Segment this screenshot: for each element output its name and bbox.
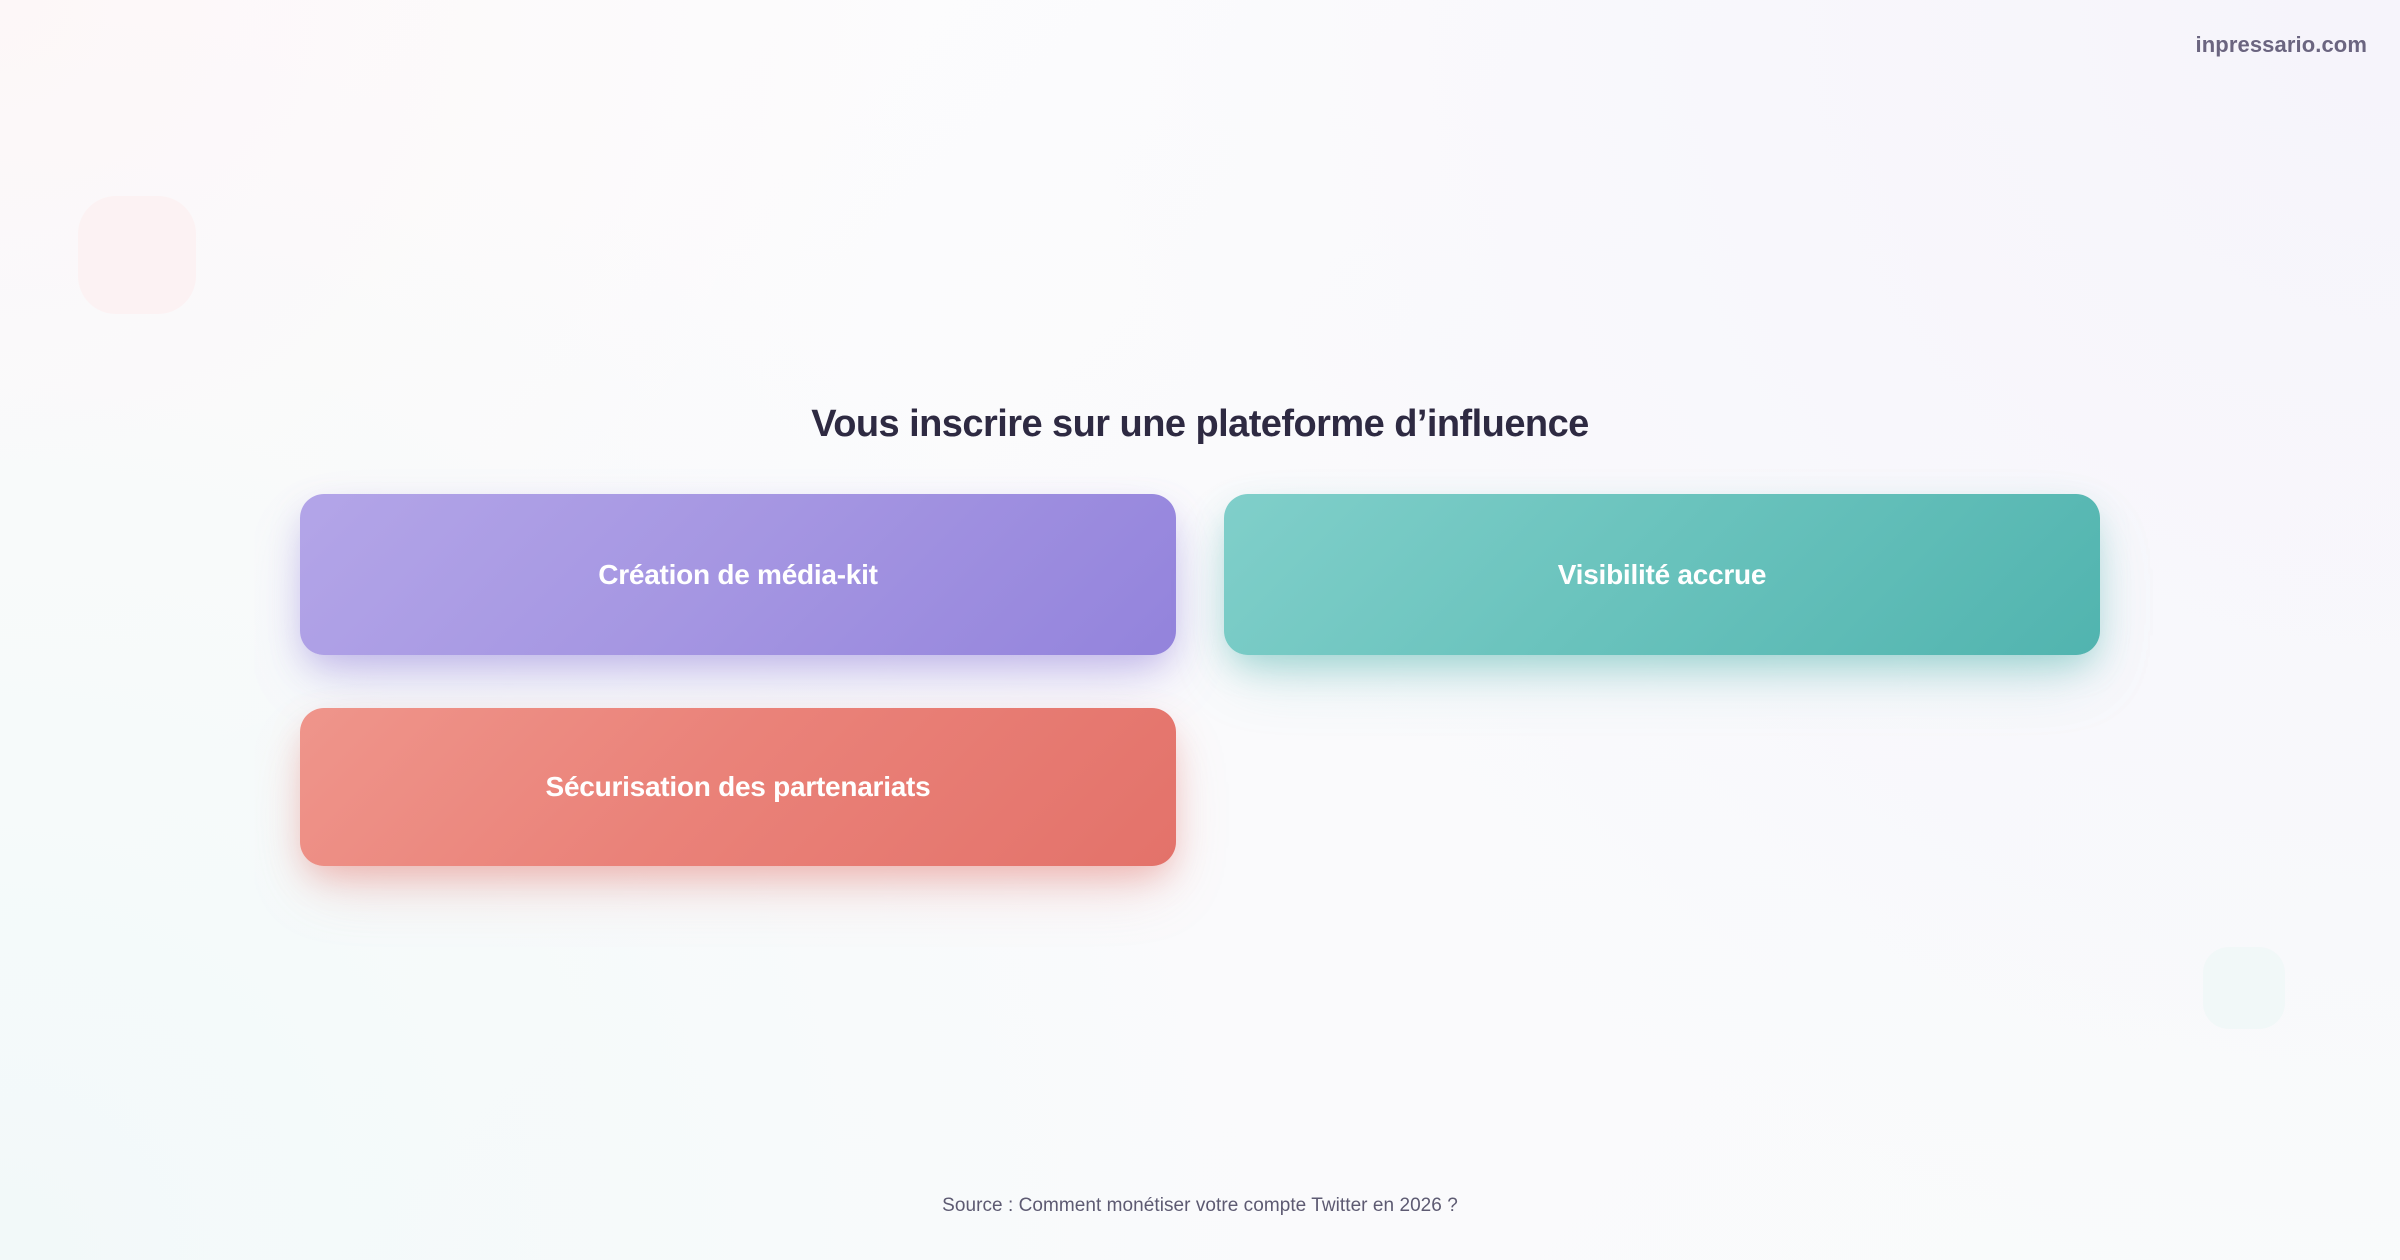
- decorative-pink-blob: [78, 196, 196, 314]
- benefit-card-label: Sécurisation des partenariats: [546, 770, 931, 804]
- site-watermark: inpressario.com: [2196, 32, 2367, 58]
- benefit-card-label: Création de média-kit: [598, 558, 877, 592]
- benefit-card-grid: Création de média-kit Visibilité accrue …: [300, 494, 2100, 866]
- benefit-card-label: Visibilité accrue: [1558, 558, 1766, 592]
- decorative-mint-blob: [2203, 947, 2285, 1029]
- benefit-card-partnerships[interactable]: Sécurisation des partenariats: [300, 708, 1176, 866]
- page-title: Vous inscrire sur une plateforme d’influ…: [0, 403, 2400, 446]
- source-caption: Source : Comment monétiser votre compte …: [0, 1195, 2400, 1217]
- benefit-card-media-kit[interactable]: Création de média-kit: [300, 494, 1176, 655]
- benefit-card-visibility[interactable]: Visibilité accrue: [1224, 494, 2100, 655]
- slide-canvas: inpressario.com Vous inscrire sur une pl…: [0, 0, 2400, 1260]
